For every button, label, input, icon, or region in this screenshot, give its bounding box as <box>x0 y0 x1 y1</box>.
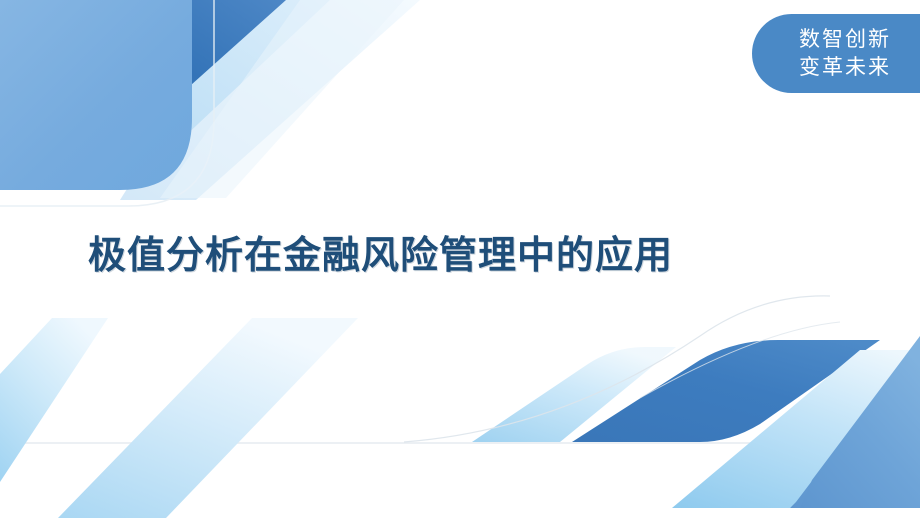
badge-line-1: 数智创新 <box>799 26 891 54</box>
corner-badge: 数智创新 变革未来 <box>752 14 920 93</box>
page-title: 极值分析在金融风险管理中的应用 <box>88 236 673 278</box>
title-block: 极值分析在金融风险管理中的应用 <box>88 228 748 286</box>
badge-line-2: 变革未来 <box>799 54 891 82</box>
top-left-rounded-panel <box>0 0 192 190</box>
slide-canvas: 极值分析在金融风险管理中的应用 数智创新 变革未来 <box>0 0 920 518</box>
